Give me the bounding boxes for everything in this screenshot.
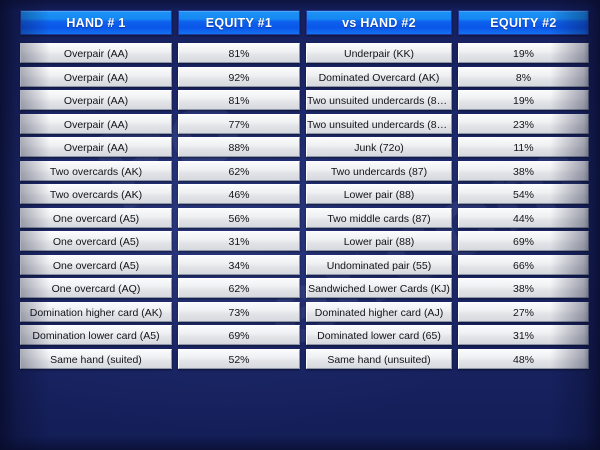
cell-hand2: Undominated pair (55): [306, 255, 452, 275]
cell-equity2: 19%: [458, 43, 589, 63]
column-header-equity-2: EQUITY #2: [458, 10, 589, 35]
cell-equity2: 19%: [458, 90, 589, 110]
cell-equity1: 62%: [178, 278, 300, 298]
table-row: One overcard (A5)56%Two middle cards (87…: [20, 208, 585, 228]
column-header-hand-2: vs HAND #2: [306, 10, 452, 35]
table-row: Two overcards (AK)62%Two undercards (87)…: [20, 161, 585, 181]
table-row: One overcard (A5)34%Undominated pair (55…: [20, 255, 585, 275]
equity-table: HAND # 1 EQUITY #1 vs HAND #2 EQUITY #2 …: [0, 0, 600, 384]
cell-equity1: 56%: [178, 208, 300, 228]
table-row: Overpair (AA)88%Junk (72o)11%: [20, 137, 585, 157]
column-header-hand-1: HAND # 1: [20, 10, 172, 35]
cell-hand1: Two overcards (AK): [20, 161, 172, 181]
cell-hand2: Same hand (unsuited): [306, 349, 452, 369]
cell-hand1: Overpair (AA): [20, 43, 172, 63]
cell-hand2: Two middle cards (87): [306, 208, 452, 228]
cell-equity1: 69%: [178, 325, 300, 345]
cell-equity1: 77%: [178, 114, 300, 134]
cell-hand1: Two overcards (AK): [20, 184, 172, 204]
cell-equity2: 44%: [458, 208, 589, 228]
cell-hand2: Dominated higher card (AJ): [306, 302, 452, 322]
table-row: Overpair (AA)81%Two unsuited undercards …: [20, 90, 585, 110]
cell-hand2: Junk (72o): [306, 137, 452, 157]
cell-hand2: Sandwiched Lower Cards (KJ): [306, 278, 452, 298]
cell-hand2: Underpair (KK): [306, 43, 452, 63]
cell-hand1: One overcard (A5): [20, 231, 172, 251]
cell-hand1: Domination higher card (AK): [20, 302, 172, 322]
cell-hand1: Same hand (suited): [20, 349, 172, 369]
cell-hand1: One overcard (A5): [20, 255, 172, 275]
table-row: Two overcards (AK)46%Lower pair (88)54%: [20, 184, 585, 204]
cell-hand2: Lower pair (88): [306, 184, 452, 204]
cell-hand2: Lower pair (88): [306, 231, 452, 251]
equity-table-panel: Po er.com HAND # 1 EQUITY #1 vs HAND #2 …: [0, 0, 600, 450]
cell-equity1: 73%: [178, 302, 300, 322]
cell-equity2: 23%: [458, 114, 589, 134]
cell-equity1: 46%: [178, 184, 300, 204]
cell-equity1: 31%: [178, 231, 300, 251]
cell-equity2: 48%: [458, 349, 589, 369]
table-body: Overpair (AA)81%Underpair (KK)19%Overpai…: [20, 43, 585, 369]
cell-hand2: Two unsuited undercards (87s): [306, 114, 452, 134]
table-row: Same hand (suited)52%Same hand (unsuited…: [20, 349, 585, 369]
cell-hand1: Overpair (AA): [20, 137, 172, 157]
cell-hand2: Dominated Overcard (AK): [306, 67, 452, 87]
cell-equity2: 31%: [458, 325, 589, 345]
cell-equity1: 34%: [178, 255, 300, 275]
cell-equity1: 81%: [178, 90, 300, 110]
cell-equity1: 92%: [178, 67, 300, 87]
cell-equity2: 11%: [458, 137, 589, 157]
table-row: Overpair (AA)81%Underpair (KK)19%: [20, 43, 585, 63]
cell-hand2: Dominated lower card (65): [306, 325, 452, 345]
cell-hand1: One overcard (A5): [20, 208, 172, 228]
table-row: Overpair (AA)92%Dominated Overcard (AK)8…: [20, 67, 585, 87]
cell-equity1: 62%: [178, 161, 300, 181]
cell-equity2: 54%: [458, 184, 589, 204]
table-row: Domination lower card (A5)69%Dominated l…: [20, 325, 585, 345]
table-row: One overcard (A5)31%Lower pair (88)69%: [20, 231, 585, 251]
cell-equity1: 81%: [178, 43, 300, 63]
table-row: Overpair (AA)77%Two unsuited undercards …: [20, 114, 585, 134]
table-header-row: HAND # 1 EQUITY #1 vs HAND #2 EQUITY #2: [20, 10, 585, 35]
cell-equity2: 69%: [458, 231, 589, 251]
cell-equity2: 66%: [458, 255, 589, 275]
cell-hand1: One overcard (AQ): [20, 278, 172, 298]
cell-hand1: Overpair (AA): [20, 114, 172, 134]
cell-equity2: 8%: [458, 67, 589, 87]
column-header-equity-1: EQUITY #1: [178, 10, 300, 35]
table-row: One overcard (AQ)62%Sandwiched Lower Car…: [20, 278, 585, 298]
cell-hand1: Overpair (AA): [20, 67, 172, 87]
cell-hand2: Two undercards (87): [306, 161, 452, 181]
cell-hand1: Overpair (AA): [20, 90, 172, 110]
table-row: Domination higher card (AK)73%Dominated …: [20, 302, 585, 322]
cell-equity2: 38%: [458, 278, 589, 298]
cell-equity1: 88%: [178, 137, 300, 157]
cell-hand2: Two unsuited undercards (87o): [306, 90, 452, 110]
cell-equity2: 38%: [458, 161, 589, 181]
cell-equity2: 27%: [458, 302, 589, 322]
cell-equity1: 52%: [178, 349, 300, 369]
cell-hand1: Domination lower card (A5): [20, 325, 172, 345]
